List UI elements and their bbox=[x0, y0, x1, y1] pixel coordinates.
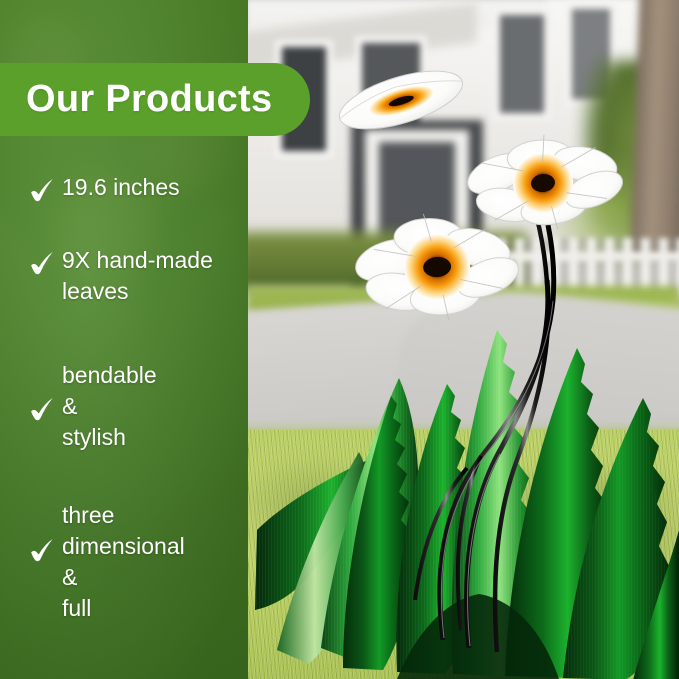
feature-label: bendable & stylish bbox=[62, 360, 157, 453]
feature-item: three dimensional & full bbox=[0, 500, 248, 624]
metal-flower-stake bbox=[247, 0, 679, 679]
stems-and-flowers bbox=[247, 0, 679, 679]
flower-head bbox=[348, 207, 526, 327]
feature-label: 19.6 inches bbox=[62, 172, 180, 203]
product-photo-pane bbox=[247, 0, 679, 679]
header-banner: Our Products bbox=[0, 63, 310, 136]
flower-head bbox=[459, 127, 631, 240]
feature-item: 19.6 inches bbox=[0, 172, 248, 206]
page-title: Our Products bbox=[0, 78, 272, 121]
flower-head bbox=[333, 59, 469, 140]
feature-item: bendable & stylish bbox=[0, 360, 248, 453]
check-icon bbox=[26, 176, 56, 206]
product-feature-image: Our Products 19.6 inches 9X hand-made le… bbox=[0, 0, 679, 679]
check-icon bbox=[26, 536, 56, 566]
check-icon bbox=[26, 249, 56, 279]
feature-item: 9X hand-made leaves bbox=[0, 245, 248, 307]
feature-label: 9X hand-made leaves bbox=[62, 245, 213, 307]
check-icon bbox=[26, 395, 56, 425]
feature-label: three dimensional & full bbox=[62, 500, 185, 624]
